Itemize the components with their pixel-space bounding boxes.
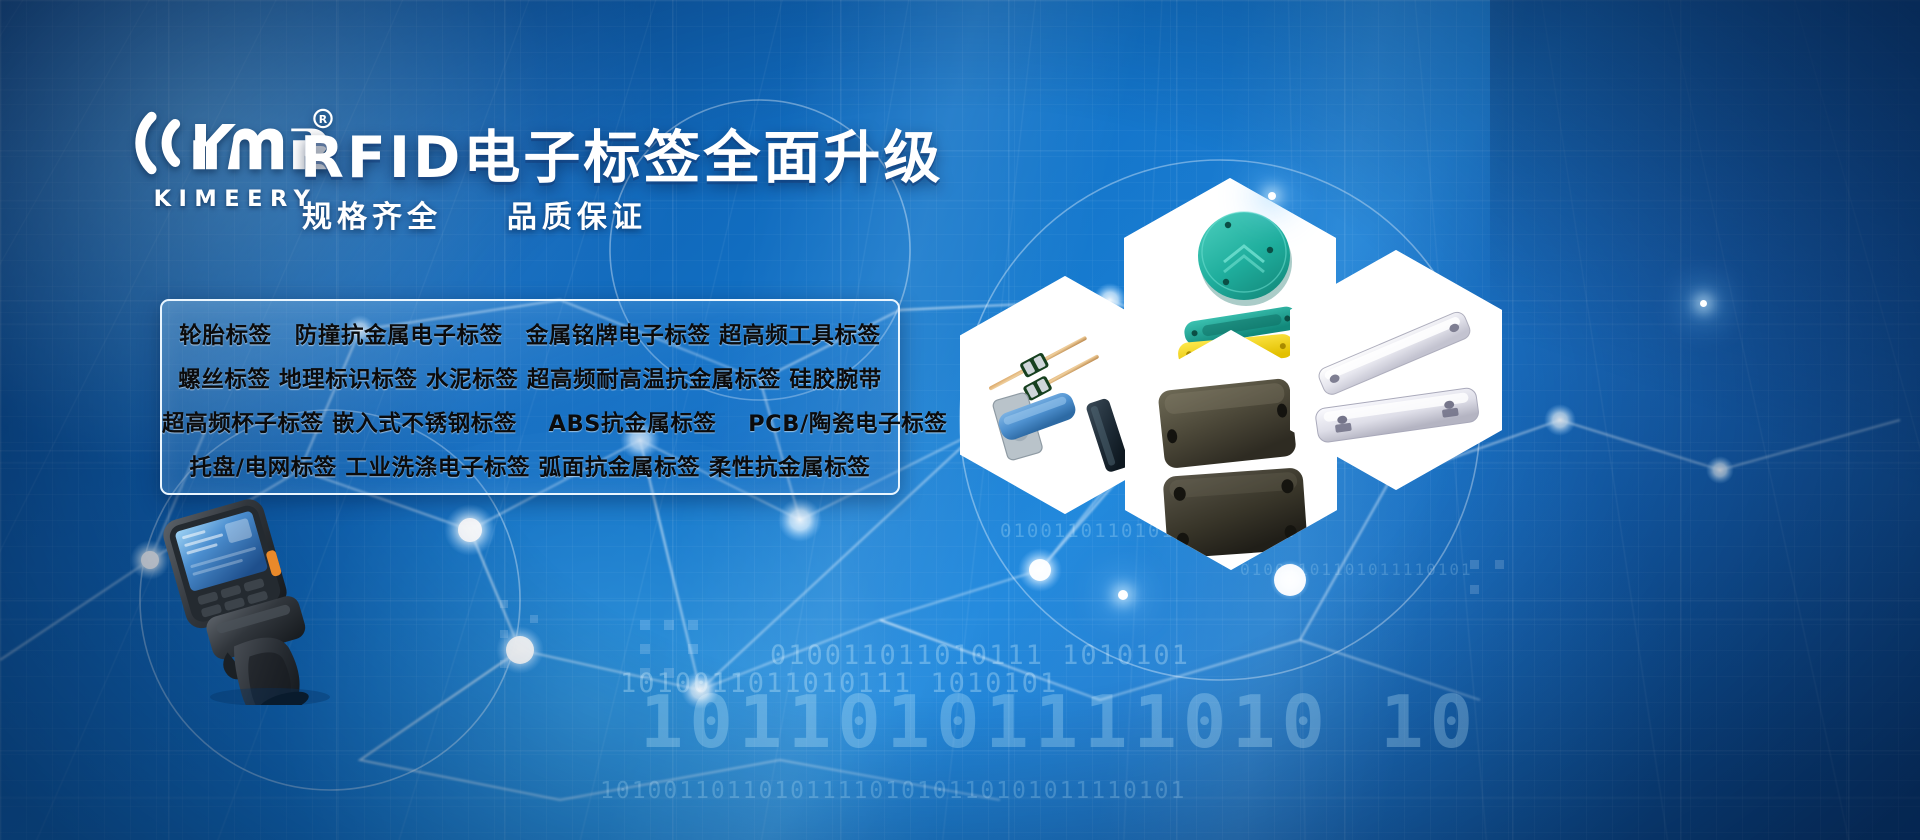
glow-dot [1118,590,1128,600]
product-list-row: 轮胎标签 防撞抗金属电子标签 金属铭牌电子标签 超高频工具标签 [162,314,898,358]
glow-dot [1700,300,1707,307]
product-list-row: 超高频杯子标签 嵌入式不锈钢标签 ABS抗金属标签 PCB/陶瓷电子标签 [162,402,898,446]
handheld-rfid-reader [150,490,380,705]
page-subtitle: 规格齐全 品质保证 [302,192,647,236]
binary-decor-d: 1010011011010111101010110101011110101 [600,778,1186,804]
binary-decor-b: 1010011011010111 1010101 [620,668,1058,699]
subtitle-right: 品质保证 [507,200,647,235]
glow-dot [1268,192,1276,200]
page-title: RFID电子标签全面升级 [300,112,943,194]
subtitle-left: 规格齐全 [302,200,442,235]
binary-decor-e: 01001101101011110101 [1240,560,1473,579]
binary-decor-a: 010011011010111 1010101 [770,640,1190,671]
product-list-panel: 轮胎标签 防撞抗金属电子标签 金属铭牌电子标签 超高频工具标签 螺丝标签 地理标… [160,299,900,495]
product-list-row: 螺丝标签 地理标识标签 水泥标签 超高频耐高温抗金属标签 硅胶腕带 [162,358,898,402]
product-list-row: 托盘/电网标签 工业洗涤电子标签 弧面抗金属标签 柔性抗金属标签 [162,446,898,490]
rfid-promo-banner: 10110101111010 10 010011011010111 101010… [0,0,1920,840]
